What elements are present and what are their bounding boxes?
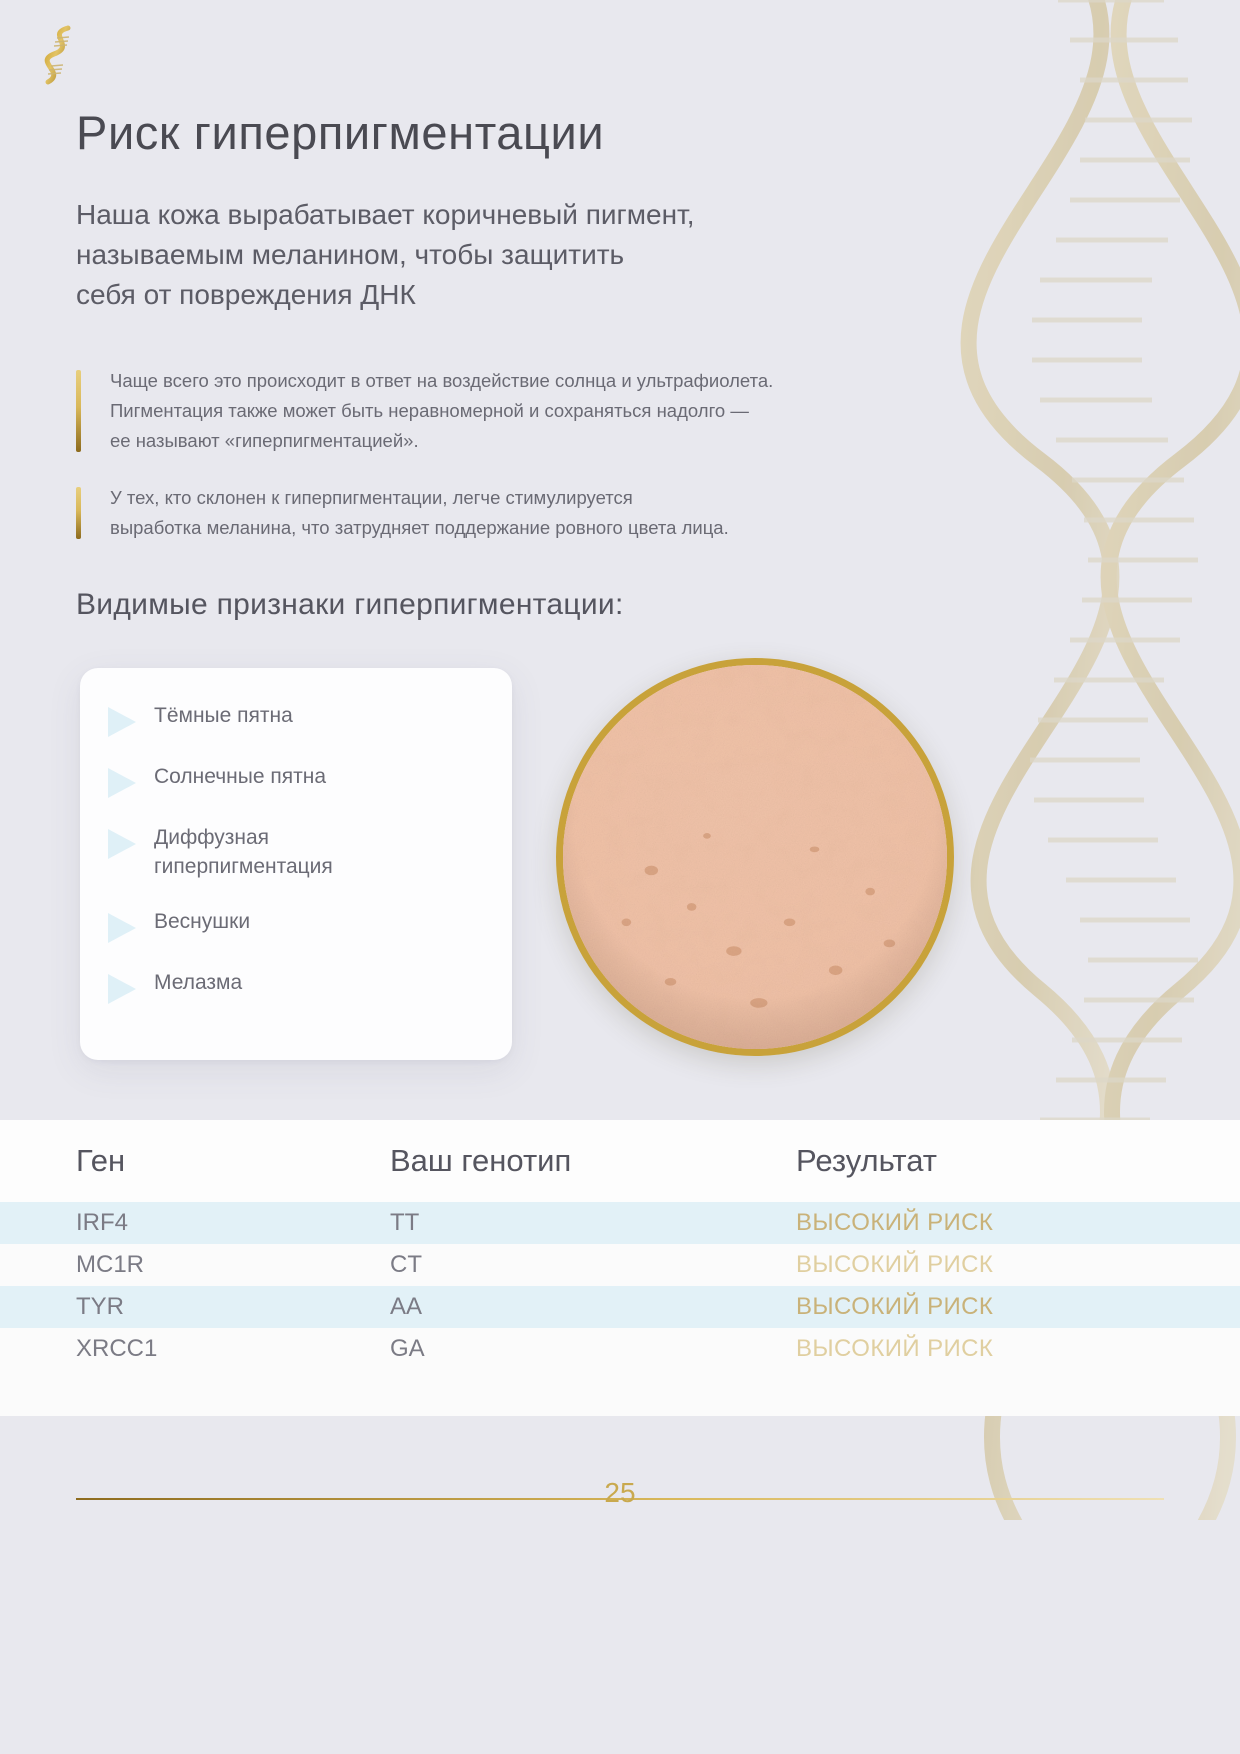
list-item: Солнечные пятна [108, 763, 484, 798]
section-heading-signs: Видимые признаки гиперпигментации: [76, 588, 624, 622]
sign-label: Диффузная гиперпигментация [154, 824, 333, 882]
cell-gene: MC1R [76, 1251, 390, 1279]
table-footer-spacer [0, 1370, 1240, 1416]
status-badge: ВЫСОКИЙ РИСК [796, 1335, 1164, 1363]
page-title: Риск гиперпигментации [76, 105, 604, 160]
callout-2-line-2: выработка меланина, что затрудняет подде… [110, 513, 1016, 543]
cell-gene: IRF4 [76, 1209, 390, 1237]
table-header-row: Ген Ваш генотип Результат [0, 1120, 1240, 1202]
sign-label: Мелазма [154, 969, 242, 998]
intro-paragraph: Наша кожа вырабатывает коричневый пигмен… [76, 195, 956, 314]
triangle-bullet-icon [108, 974, 136, 1004]
list-item: Мелазма [108, 969, 484, 1004]
cell-genotype: TT [390, 1209, 796, 1237]
sign-label: Веснушки [154, 908, 250, 937]
signs-card: Тёмные пятна Солнечные пятна Диффузная г… [80, 668, 512, 1060]
page-number: 25 [0, 1477, 1240, 1509]
column-header-result: Результат [796, 1143, 1164, 1179]
cell-genotype: AA [390, 1293, 796, 1321]
table-row: XRCC1 GA ВЫСОКИЙ РИСК [0, 1328, 1240, 1370]
cell-genotype: GA [390, 1335, 796, 1363]
cell-genotype: CT [390, 1251, 796, 1279]
callout-2-line-1: У тех, кто склонен к гиперпигментации, л… [110, 483, 1016, 513]
callout-block-2: У тех, кто склонен к гиперпигментации, л… [76, 483, 1016, 543]
dna-helix-logo-icon [38, 22, 84, 88]
callout-1-line-1: Чаще всего это происходит в ответ на воз… [110, 366, 1016, 396]
intro-line-1: Наша кожа вырабатывает коричневый пигмен… [76, 195, 956, 235]
cell-gene: TYR [76, 1293, 390, 1321]
column-header-genotype: Ваш генотип [390, 1143, 796, 1179]
report-page: Риск гиперпигментации Наша кожа вырабаты… [0, 0, 1240, 1754]
sign-label: Солнечные пятна [154, 763, 326, 792]
triangle-bullet-icon [108, 768, 136, 798]
table-row: IRF4 TT ВЫСОКИЙ РИСК [0, 1202, 1240, 1244]
skin-photo [556, 658, 954, 1056]
triangle-bullet-icon [108, 707, 136, 737]
cell-gene: XRCC1 [76, 1335, 390, 1363]
sign-label: Тёмные пятна [154, 702, 293, 731]
triangle-bullet-icon [108, 829, 136, 859]
genotype-results-table: Ген Ваш генотип Результат IRF4 TT ВЫСОКИ… [0, 1120, 1240, 1416]
table-row: TYR AA ВЫСОКИЙ РИСК [0, 1286, 1240, 1328]
triangle-bullet-icon [108, 913, 136, 943]
status-badge: ВЫСОКИЙ РИСК [796, 1293, 1164, 1321]
column-header-gene: Ген [76, 1143, 390, 1179]
status-badge: ВЫСОКИЙ РИСК [796, 1209, 1164, 1237]
intro-line-2: называемым меланином, чтобы защитить [76, 235, 956, 275]
callout-1-line-2: Пигментация также может быть неравномерн… [110, 396, 1016, 426]
list-item: Веснушки [108, 908, 484, 943]
intro-line-3: себя от повреждения ДНК [76, 275, 956, 315]
callout-1-line-3: ее называют «гиперпигментацией». [110, 426, 1016, 456]
table-row: MC1R CT ВЫСОКИЙ РИСК [0, 1244, 1240, 1286]
list-item: Тёмные пятна [108, 702, 484, 737]
status-badge: ВЫСОКИЙ РИСК [796, 1251, 1164, 1279]
callout-block-1: Чаще всего это происходит в ответ на воз… [76, 366, 1016, 456]
list-item: Диффузная гиперпигментация [108, 824, 484, 882]
